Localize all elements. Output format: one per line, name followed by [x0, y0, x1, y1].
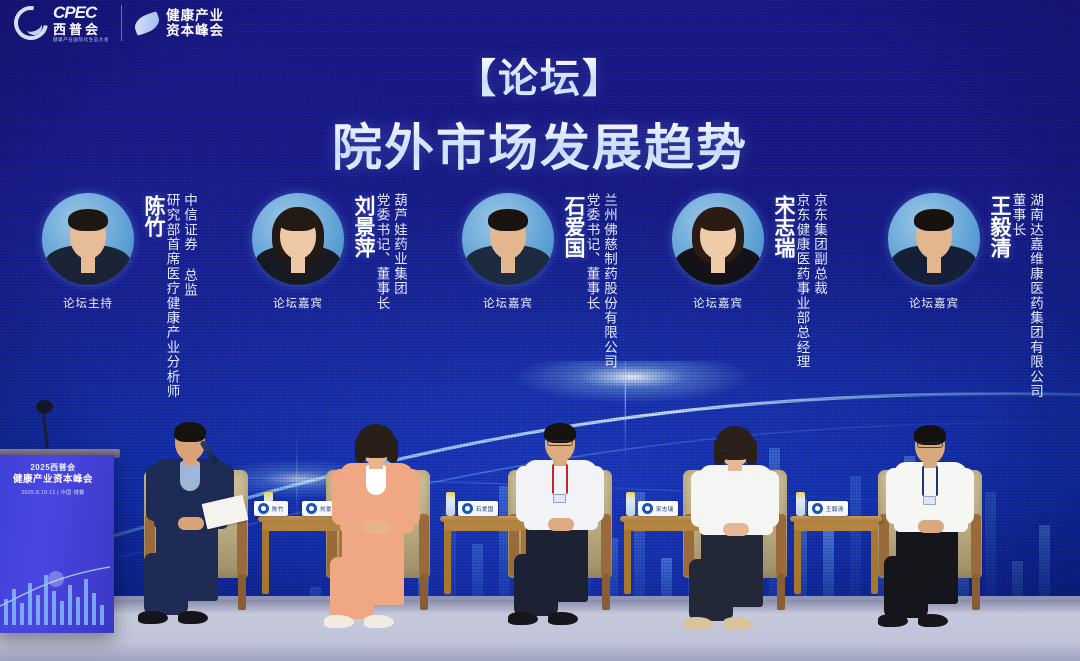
seated-panelist-5 [0, 0, 1080, 661]
conference-stage-photo: CPEC 西普会 健康产业国际化生态大会 健康产业 资本峰会 【论坛】 院外市场… [0, 0, 1080, 661]
badge-icon [923, 496, 936, 505]
